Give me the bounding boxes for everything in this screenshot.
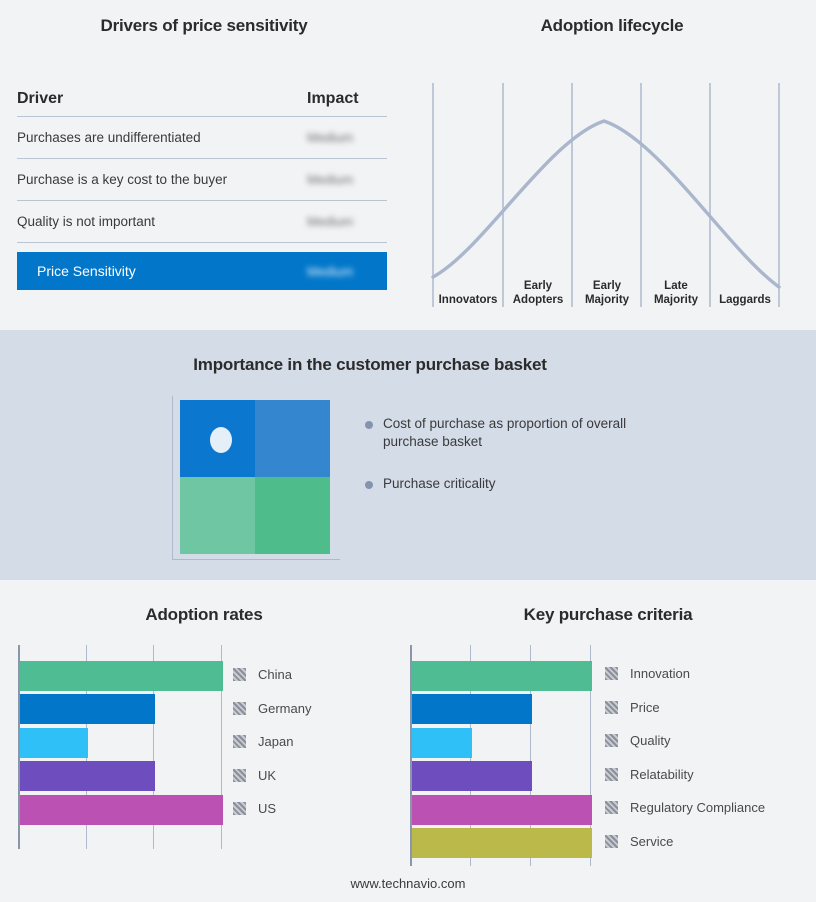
table-header-row: Driver Impact <box>17 90 387 116</box>
stage-line: Majority <box>573 293 641 307</box>
price-sensitivity-row: Price Sensitivity Medium <box>17 252 387 290</box>
column-header-impact: Impact <box>307 90 387 108</box>
key-purchase-criteria-title: Key purchase criteria <box>400 605 816 625</box>
criteria-legend: InnovationPriceQualityRelatabilityRegula… <box>605 657 765 858</box>
table-row: Purchases are undifferentiated Medium <box>17 117 387 158</box>
legend-item: US <box>233 792 311 826</box>
quadrant-marker <box>210 427 232 453</box>
stage-line: Early <box>504 279 572 293</box>
legend-item: Cost of purchase as proportion of overal… <box>365 415 655 451</box>
basket-title: Importance in the customer purchase bask… <box>0 355 740 375</box>
adoption-plot-area <box>18 645 223 848</box>
legend-item: Service <box>605 825 765 859</box>
driver-impact-value: Medium <box>307 264 387 279</box>
chart-bar <box>20 694 155 724</box>
hatched-swatch-icon <box>233 802 246 815</box>
lifecycle-stage-laggards: Laggards <box>711 293 779 307</box>
legend-label: Service <box>630 834 673 849</box>
legend-item: Price <box>605 691 765 725</box>
chart-bar <box>412 761 532 791</box>
hatched-swatch-icon <box>233 668 246 681</box>
hatched-swatch-icon <box>605 734 618 747</box>
lifecycle-stage-early-majority: Early Majority <box>573 279 641 307</box>
hatched-swatch-icon <box>605 667 618 680</box>
bullet-icon <box>365 421 373 429</box>
table-divider <box>17 242 387 243</box>
hatched-swatch-icon <box>233 702 246 715</box>
chart-bar <box>412 728 472 758</box>
legend-label: Innovation <box>630 666 690 681</box>
quadrant-x-axis <box>172 559 340 560</box>
legend-label: Relatability <box>630 767 694 782</box>
hatched-swatch-icon <box>605 835 618 848</box>
chart-bar <box>412 795 592 825</box>
stage-line: Majority <box>642 293 710 307</box>
drivers-panel: Driver Impact Purchases are undifferenti… <box>0 0 408 330</box>
quadrant-bottom-right <box>255 477 330 554</box>
driver-impact-value: Medium <box>307 130 387 145</box>
quadrant-top-left <box>180 400 255 477</box>
hatched-swatch-icon <box>605 701 618 714</box>
legend-item: China <box>233 658 311 692</box>
legend-label: UK <box>258 768 276 783</box>
legend-label: US <box>258 801 276 816</box>
stage-line: Late <box>642 279 710 293</box>
criteria-plot-area <box>410 645 592 862</box>
hatched-swatch-icon <box>605 768 618 781</box>
stage-line: Laggards <box>711 293 779 307</box>
legend-label: Germany <box>258 701 311 716</box>
table-row: Quality is not important Medium <box>17 201 387 242</box>
basket-legend: Cost of purchase as proportion of overal… <box>365 415 655 517</box>
hatched-swatch-icon <box>233 735 246 748</box>
watermark: www.technavio.com <box>0 876 816 891</box>
key-purchase-criteria-chart: InnovationPriceQualityRelatabilityRegula… <box>410 645 810 870</box>
chart-bar <box>412 828 592 858</box>
chart-bar <box>412 661 592 691</box>
adoption-rates-title: Adoption rates <box>0 605 408 625</box>
legend-label: Price <box>630 700 660 715</box>
chart-bar <box>20 761 155 791</box>
lifecycle-stage-innovators: Innovators <box>434 293 502 307</box>
table-row: Purchase is a key cost to the buyer Medi… <box>17 159 387 200</box>
lifecycle-stage-early-adopters: Early Adopters <box>504 279 572 307</box>
quadrant-y-axis <box>172 396 173 559</box>
chart-bar <box>20 661 223 691</box>
legend-label: Quality <box>630 733 670 748</box>
legend-label: China <box>258 667 292 682</box>
stage-line: Adopters <box>504 293 572 307</box>
adoption-rates-chart: ChinaGermanyJapanUKUS <box>18 645 408 860</box>
legend-item: Purchase criticality <box>365 475 655 493</box>
legend-label: Purchase criticality <box>383 475 496 493</box>
legend-label: Regulatory Compliance <box>630 800 765 815</box>
adoption-legend: ChinaGermanyJapanUKUS <box>233 658 311 826</box>
legend-label: Cost of purchase as proportion of overal… <box>383 415 655 451</box>
drivers-table: Driver Impact Purchases are undifferenti… <box>17 90 387 290</box>
lifecycle-stage-late-majority: Late Majority <box>642 279 710 307</box>
legend-item: Quality <box>605 724 765 758</box>
purchase-basket-quadrant <box>180 400 330 555</box>
driver-name: Purchases are undifferentiated <box>17 130 307 145</box>
legend-item: Relatability <box>605 758 765 792</box>
legend-item: Germany <box>233 692 311 726</box>
legend-item: Innovation <box>605 657 765 691</box>
chart-bar <box>412 694 532 724</box>
legend-item: Japan <box>233 725 311 759</box>
hatched-swatch-icon <box>605 801 618 814</box>
quadrant-bottom-left <box>180 477 255 554</box>
hatched-swatch-icon <box>233 769 246 782</box>
quadrant-top-right <box>255 400 330 477</box>
driver-impact-value: Medium <box>307 172 387 187</box>
bullet-icon <box>365 481 373 489</box>
stage-line: Early <box>573 279 641 293</box>
column-header-driver: Driver <box>17 90 307 108</box>
driver-impact-value: Medium <box>307 214 387 229</box>
stage-line: Innovators <box>434 293 502 307</box>
lifecycle-panel: Innovators Early Adopters Early Majority… <box>408 0 816 330</box>
chart-bar <box>20 728 88 758</box>
legend-item: UK <box>233 759 311 793</box>
driver-name: Price Sensitivity <box>37 263 307 279</box>
driver-name: Purchase is a key cost to the buyer <box>17 172 307 187</box>
legend-label: Japan <box>258 734 293 749</box>
driver-name: Quality is not important <box>17 214 307 229</box>
legend-item: Regulatory Compliance <box>605 791 765 825</box>
chart-bar <box>20 795 223 825</box>
